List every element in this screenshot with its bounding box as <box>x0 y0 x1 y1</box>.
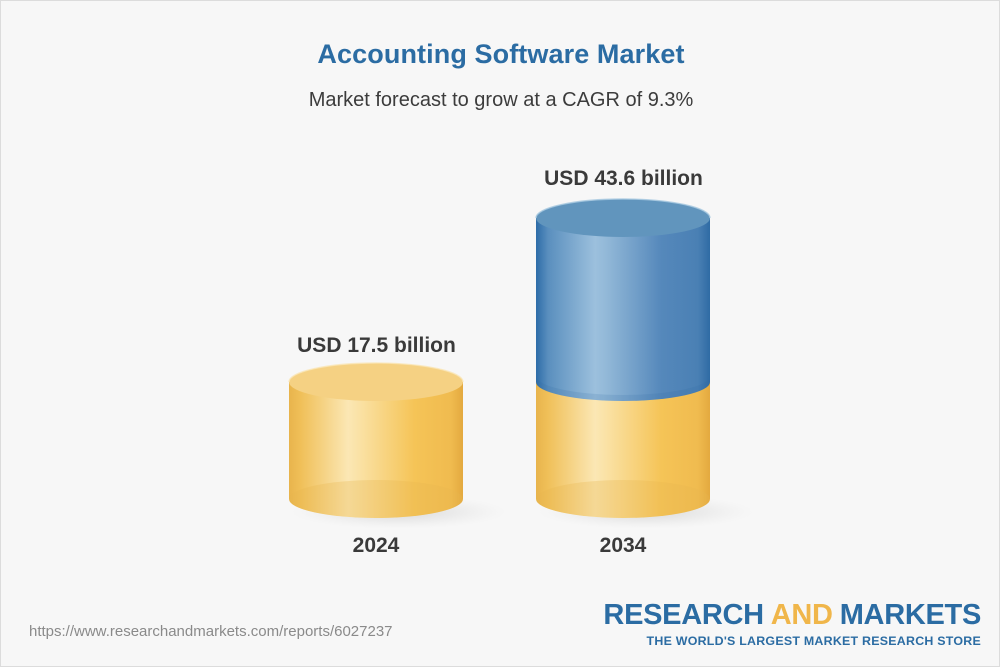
bar-2034-bottom-shade <box>536 480 710 518</box>
infographic-canvas: Accounting Software Market Market foreca… <box>0 0 1000 667</box>
bar-2034-body <box>536 218 710 401</box>
logo-word-markets: MARKETS <box>840 599 981 631</box>
bar-category-label-2034: 2034 <box>548 534 698 558</box>
logo-wordmark: RESEARCHANDMARKETS <box>603 601 981 630</box>
source-url[interactable]: https://www.researchandmarkets.com/repor… <box>29 623 393 640</box>
bar-value-label-2034: USD 43.6 billion <box>526 167 721 191</box>
bar-value-label-2024: USD 17.5 billion <box>279 334 474 358</box>
logo-word-and: AND <box>771 599 833 631</box>
bar-category-label-2024: 2024 <box>301 534 451 558</box>
research-and-markets-logo[interactable]: RESEARCHANDMARKETS THE WORLD'S LARGEST M… <box>603 601 981 647</box>
logo-tagline: THE WORLD'S LARGEST MARKET RESEARCH STOR… <box>603 635 981 647</box>
cylinder-bar-chart <box>1 1 1000 667</box>
bar-2024[interactable] <box>289 363 463 518</box>
bar-2024-bottom-shade <box>289 480 463 518</box>
logo-word-research: RESEARCH <box>603 599 763 631</box>
bar-2034[interactable] <box>536 199 710 518</box>
